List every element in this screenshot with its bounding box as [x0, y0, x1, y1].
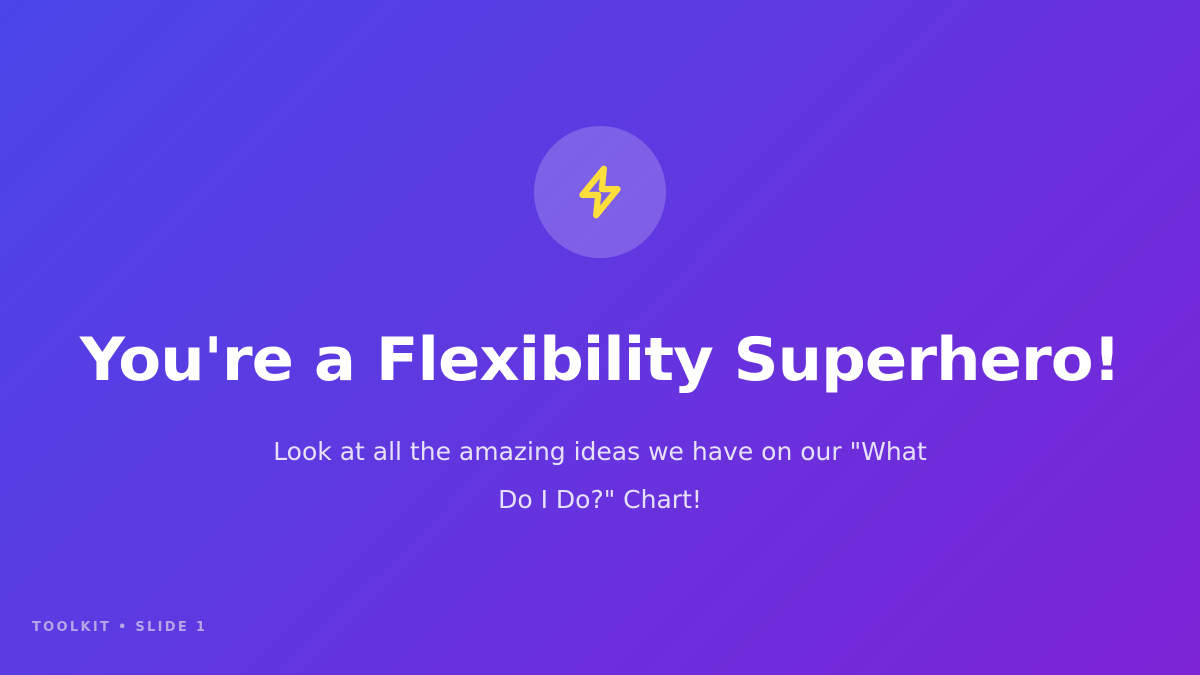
icon-badge: [534, 126, 666, 258]
page-title: You're a Flexibility Superhero!: [0, 327, 1200, 394]
lightning-bolt-icon: [569, 161, 631, 223]
slide-footer-label: TOOLKIT • SLIDE 1: [32, 620, 207, 635]
presentation-slide: You're a Flexibility Superhero! Look at …: [0, 0, 1200, 675]
subtitle-line-2: Do I Do?" Chart!: [498, 485, 702, 514]
subtitle-line-1: Look at all the amazing ideas we have on…: [273, 437, 927, 466]
subtitle: Look at all the amazing ideas we have on…: [230, 428, 970, 524]
